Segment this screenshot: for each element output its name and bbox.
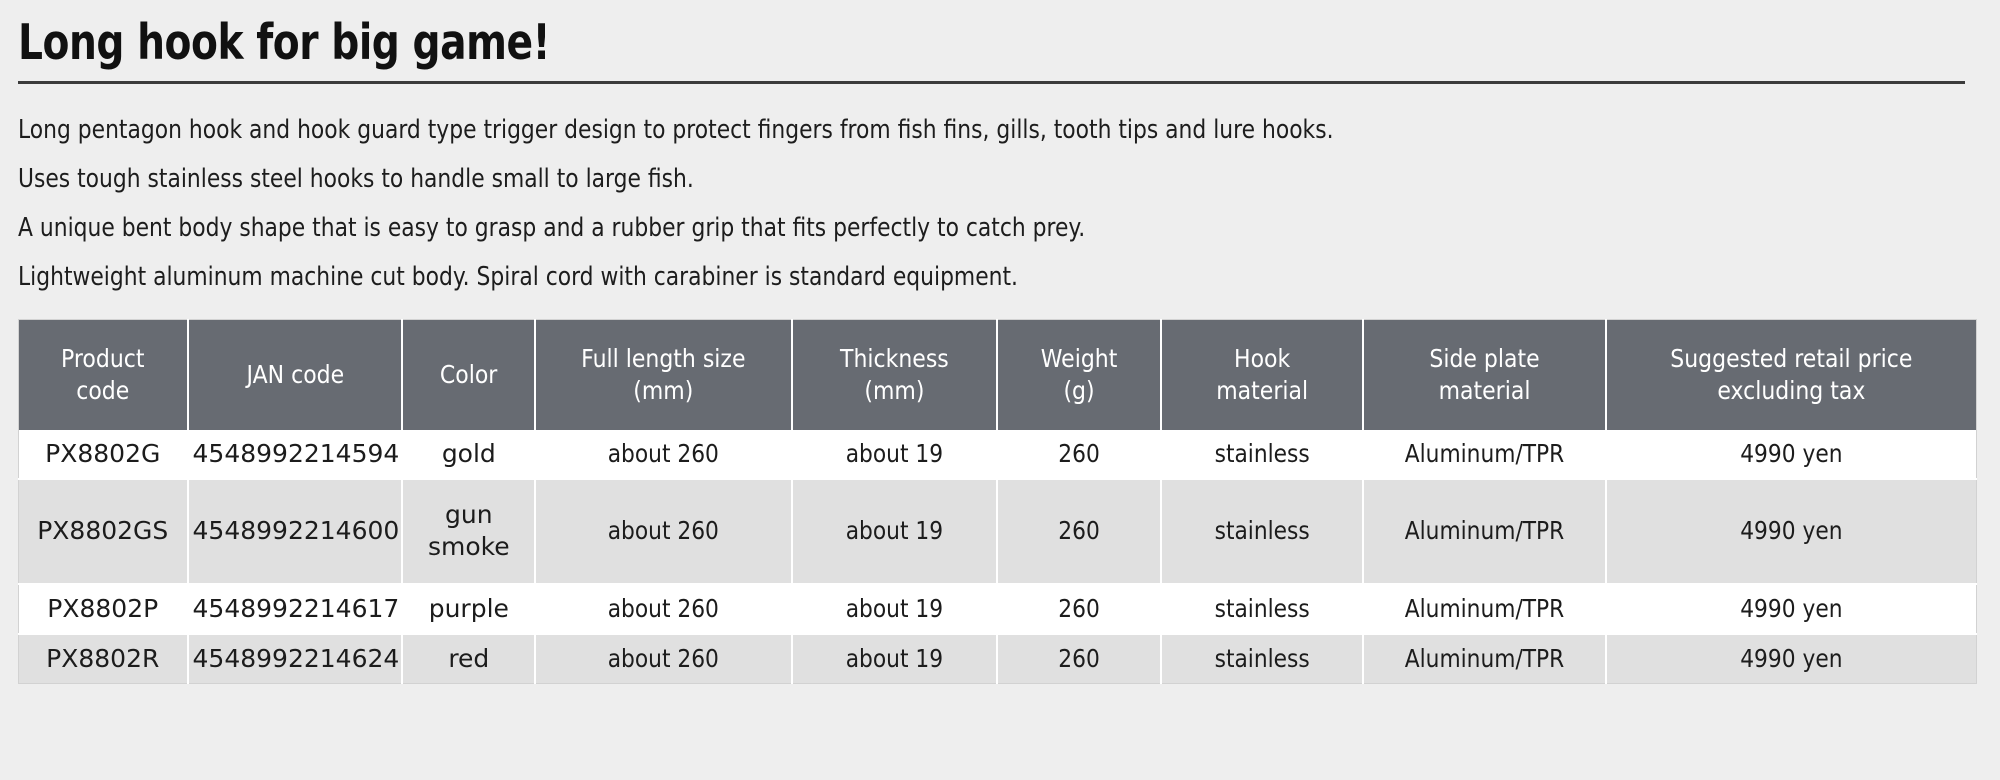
spec-table: Product code JAN code Color Full length … (18, 319, 1977, 684)
cell-full-length-size: about 260 (535, 634, 792, 684)
column-header-full-length-size: Full length size (mm) (535, 320, 792, 430)
cell-thickness: about 19 (792, 584, 997, 634)
column-header-product-code-line2: code (34, 375, 171, 407)
cell-color: gun smoke (402, 479, 535, 584)
spec-table-body: PX8802G 4548992214594 gold about 260 abo… (19, 430, 1977, 684)
cell-jan-code: 4548992214594 (188, 430, 403, 479)
cell-hook-material: stainless (1161, 584, 1363, 634)
value-price: 4990 yen (1635, 643, 1949, 675)
cell-full-length-size: about 260 (535, 479, 792, 584)
product-spec-page: Long hook for big game! Long pentagon ho… (0, 0, 2000, 780)
column-header-side-plate-material: Side plate material (1363, 320, 1606, 430)
cell-color: gold (402, 430, 535, 479)
cell-side-plate-material: Aluminum/TPR (1363, 634, 1606, 684)
cell-full-length-size: about 260 (535, 584, 792, 634)
cell-color: red (402, 634, 535, 684)
value-hook-material: stainless (1178, 643, 1345, 675)
cell-price: 4990 yen (1606, 634, 1976, 684)
cell-hook-material: stainless (1161, 479, 1363, 584)
value-jan-code: 4548992214594 (193, 438, 398, 470)
value-jan-code: 4548992214600 (193, 515, 398, 547)
column-header-thickness: Thickness (mm) (792, 320, 997, 430)
column-header-color: Color (402, 320, 535, 430)
description-line-4: Lightweight aluminum machine cut body. S… (18, 253, 1967, 302)
column-header-product-code: Product code (19, 320, 188, 430)
column-header-jan-code-line1: JAN code (207, 359, 384, 391)
value-color: purple (407, 593, 530, 625)
description-line-3: A unique bent body shape that is easy to… (18, 204, 1967, 253)
value-price: 4990 yen (1635, 515, 1949, 547)
column-header-price-line1: Suggested retail price (1635, 343, 1949, 375)
value-thickness: about 19 (810, 515, 979, 547)
value-product-code: PX8802P (23, 593, 183, 625)
cell-weight: 260 (997, 584, 1161, 634)
value-jan-code: 4548992214617 (193, 593, 398, 625)
value-weight: 260 (1012, 643, 1146, 675)
column-header-price: Suggested retail price excluding tax (1606, 320, 1976, 430)
column-header-color-line1: Color (416, 359, 521, 391)
value-full-length-size: about 260 (556, 438, 771, 470)
value-jan-code: 4548992214624 (193, 643, 398, 675)
value-hook-material: stainless (1178, 593, 1345, 625)
column-header-hook-material: Hook material (1161, 320, 1363, 430)
cell-weight: 260 (997, 634, 1161, 684)
cell-price: 4990 yen (1606, 430, 1976, 479)
cell-weight: 260 (997, 479, 1161, 584)
cell-jan-code: 4548992214624 (188, 634, 403, 684)
value-thickness: about 19 (810, 593, 979, 625)
cell-thickness: about 19 (792, 430, 997, 479)
cell-side-plate-material: Aluminum/TPR (1363, 479, 1606, 584)
cell-thickness: about 19 (792, 634, 997, 684)
column-header-weight-line2: (g) (1013, 375, 1145, 407)
cell-hook-material: stainless (1161, 634, 1363, 684)
cell-full-length-size: about 260 (535, 430, 792, 479)
product-description: Long pentagon hook and hook guard type t… (18, 106, 1967, 302)
table-row: PX8802GS 4548992214600 gun smoke about 2… (19, 479, 1977, 584)
column-header-hook-material-line2: material (1179, 375, 1345, 407)
value-full-length-size: about 260 (556, 593, 771, 625)
column-header-side-plate-material-line1: Side plate (1384, 343, 1586, 375)
value-color: red (407, 643, 530, 675)
column-header-side-plate-material-line2: material (1384, 375, 1586, 407)
value-thickness: about 19 (810, 643, 979, 675)
cell-hook-material: stainless (1161, 430, 1363, 479)
value-side-plate-material: Aluminum/TPR (1383, 593, 1586, 625)
value-full-length-size: about 260 (556, 643, 771, 675)
table-row: PX8802R 4548992214624 red about 260 abou… (19, 634, 1977, 684)
value-color: gun smoke (407, 499, 530, 563)
value-full-length-size: about 260 (556, 515, 771, 547)
value-weight: 260 (1012, 593, 1146, 625)
column-header-price-line2: excluding tax (1635, 375, 1949, 407)
table-row: PX8802G 4548992214594 gold about 260 abo… (19, 430, 1977, 479)
cell-product-code: PX8802G (19, 430, 188, 479)
cell-product-code: PX8802R (19, 634, 188, 684)
cell-color: purple (402, 584, 535, 634)
cell-product-code: PX8802P (19, 584, 188, 634)
value-price: 4990 yen (1635, 593, 1949, 625)
value-hook-material: stainless (1178, 438, 1345, 470)
description-line-1: Long pentagon hook and hook guard type t… (18, 106, 1967, 155)
column-header-thickness-line2: (mm) (810, 375, 978, 407)
cell-weight: 260 (997, 430, 1161, 479)
cell-product-code: PX8802GS (19, 479, 188, 584)
cell-jan-code: 4548992214617 (188, 584, 403, 634)
cell-price: 4990 yen (1606, 584, 1976, 634)
column-header-jan-code: JAN code (188, 320, 403, 430)
description-line-2: Uses tough stainless steel hooks to hand… (18, 155, 1967, 204)
value-weight: 260 (1012, 515, 1146, 547)
spec-table-container: Product code JAN code Color Full length … (18, 319, 1982, 684)
value-weight: 260 (1012, 438, 1146, 470)
value-side-plate-material: Aluminum/TPR (1383, 438, 1586, 470)
spec-table-header: Product code JAN code Color Full length … (19, 320, 1977, 430)
column-header-weight: Weight (g) (997, 320, 1161, 430)
cell-price: 4990 yen (1606, 479, 1976, 584)
value-color: gold (407, 438, 530, 470)
value-side-plate-material: Aluminum/TPR (1383, 643, 1586, 675)
table-row: PX8802P 4548992214617 purple about 260 a… (19, 584, 1977, 634)
column-header-thickness-line1: Thickness (810, 343, 978, 375)
value-product-code: PX8802G (23, 438, 183, 470)
cell-side-plate-material: Aluminum/TPR (1363, 430, 1606, 479)
column-header-full-length-size-line2: (mm) (557, 375, 771, 407)
value-hook-material: stainless (1178, 515, 1345, 547)
value-side-plate-material: Aluminum/TPR (1383, 515, 1586, 547)
column-header-product-code-line1: Product (34, 343, 171, 375)
table-header-row: Product code JAN code Color Full length … (19, 320, 1977, 430)
value-product-code: PX8802R (23, 643, 183, 675)
cell-jan-code: 4548992214600 (188, 479, 403, 584)
value-product-code: PX8802GS (23, 515, 183, 547)
cell-side-plate-material: Aluminum/TPR (1363, 584, 1606, 634)
page-title: Long hook for big game! (18, 0, 1589, 67)
column-header-full-length-size-line1: Full length size (557, 343, 771, 375)
column-header-weight-line1: Weight (1013, 343, 1145, 375)
title-divider (18, 81, 1965, 84)
value-thickness: about 19 (810, 438, 979, 470)
column-header-hook-material-line1: Hook (1179, 343, 1345, 375)
cell-thickness: about 19 (792, 479, 997, 584)
value-price: 4990 yen (1635, 438, 1949, 470)
